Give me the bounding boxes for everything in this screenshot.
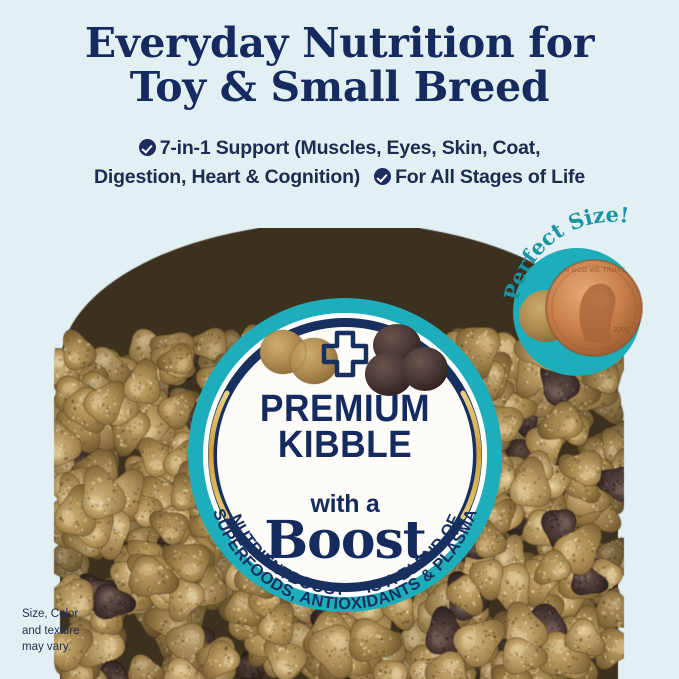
- headline-line-1: Everyday Nutrition for: [85, 19, 594, 67]
- bullet-row-2: Digestion, Heart & Cognition)For All Sta…: [0, 163, 679, 192]
- penny-coin: IN GOD WE TRUST 2009: [546, 260, 642, 356]
- check-circle-icon: [139, 139, 156, 156]
- bullet-text-2: Digestion, Heart & Cognition): [94, 166, 360, 188]
- disclaimer-line-3: may vary: [22, 639, 142, 656]
- disclaimer-line-1: Size, Color: [22, 606, 142, 623]
- bullet-text-3: For All Stages of Life: [395, 166, 585, 188]
- premium-kibble-badge: NUTRIENTBOOST™ IS A BLEND OF SUPERFOODS,…: [185, 295, 505, 615]
- perfect-size-callout: IN GOD WE TRUST 2009 Perfect Size!: [489, 204, 679, 394]
- coin-year: 2009: [613, 327, 629, 334]
- coin-motto: IN GOD WE TRUST: [562, 268, 625, 274]
- product-marketing-image: Everyday Nutrition for Toy & Small Breed…: [0, 0, 679, 679]
- page-title: Everyday Nutrition for Toy & Small Breed: [0, 22, 679, 110]
- disclaimer-line-2: and texture: [22, 623, 142, 640]
- bullet-text-1: 7-in-1 Support (Muscles, Eyes, Skin, Coa…: [160, 137, 541, 159]
- headline-line-2: Toy & Small Breed: [0, 66, 679, 110]
- disclaimer: Size, Color and texture may vary: [22, 606, 142, 656]
- feature-bullets: 7-in-1 Support (Muscles, Eyes, Skin, Coa…: [0, 134, 679, 193]
- bullet-row-1: 7-in-1 Support (Muscles, Eyes, Skin, Coa…: [0, 134, 679, 163]
- check-circle-icon: [374, 168, 391, 185]
